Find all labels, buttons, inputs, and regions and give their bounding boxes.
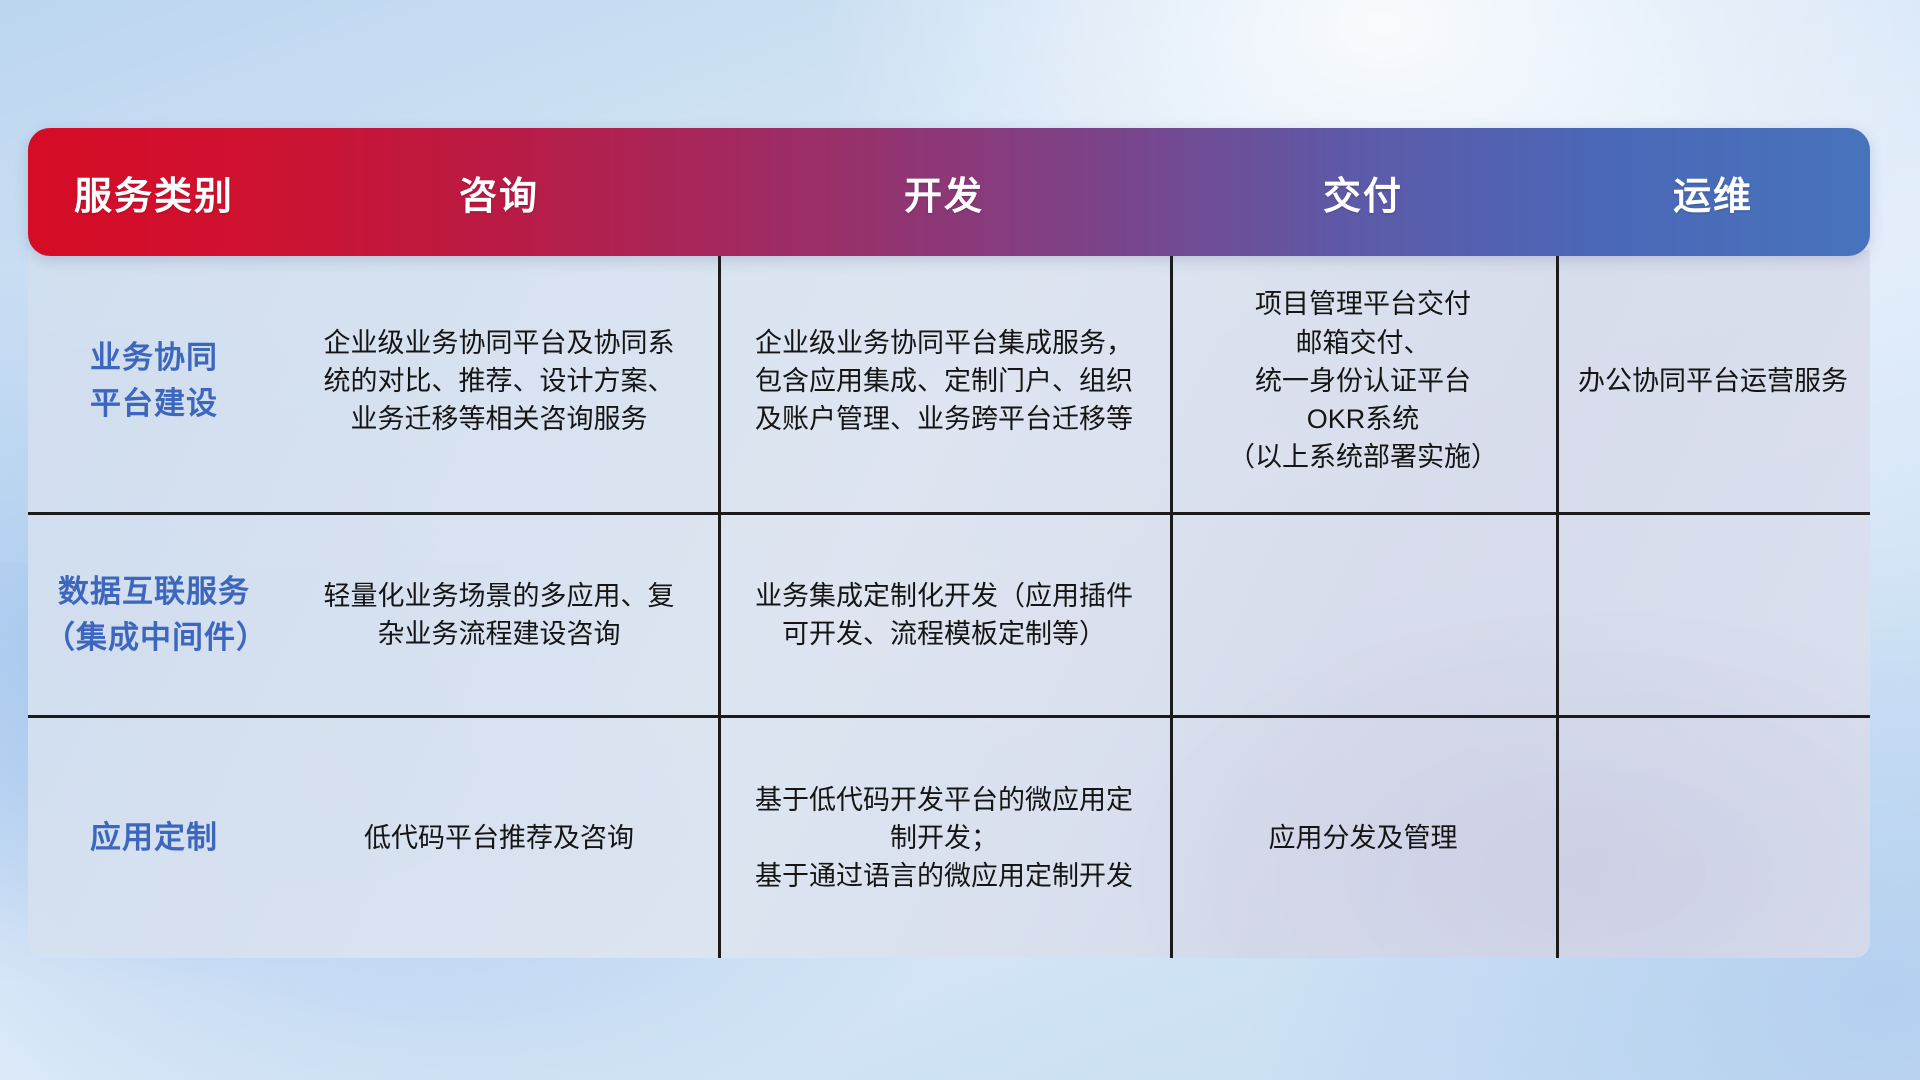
cell-consulting: 企业级业务协同平台及协同系 统的对比、推荐、设计方案、 业务迁移等相关咨询服务	[280, 250, 718, 512]
cell-delivery	[1170, 515, 1556, 715]
table-row: 应用定制 低代码平台推荐及咨询 基于低代码开发平台的微应用定 制开发； 基于通过…	[28, 715, 1870, 958]
table-row: 业务协同 平台建设 企业级业务协同平台及协同系 统的对比、推荐、设计方案、 业务…	[28, 250, 1870, 512]
cell-delivery: 项目管理平台交付 邮箱交付、 统一身份认证平台 OKR系统 （以上系统部署实施）	[1170, 250, 1556, 512]
row-category-label: 应用定制	[28, 718, 280, 958]
service-matrix-table: 服务类别 咨询 开发 交付 运维 业务协同 平台建设 企业级业务协同平台及协同系…	[28, 128, 1870, 958]
column-header-development: 开发	[718, 165, 1170, 220]
table-body: 业务协同 平台建设 企业级业务协同平台及协同系 统的对比、推荐、设计方案、 业务…	[28, 250, 1870, 958]
cell-consulting: 轻量化业务场景的多应用、复 杂业务流程建设咨询	[280, 515, 718, 715]
cell-operations: 办公协同平台运营服务	[1556, 250, 1870, 512]
row-category-label: 数据互联服务 （集成中间件）	[28, 515, 280, 715]
column-header-consulting: 咨询	[280, 165, 718, 220]
table-row: 数据互联服务 （集成中间件） 轻量化业务场景的多应用、复 杂业务流程建设咨询 业…	[28, 512, 1870, 715]
cell-consulting: 低代码平台推荐及咨询	[280, 718, 718, 958]
column-header-operations: 运维	[1556, 165, 1870, 220]
cell-delivery: 应用分发及管理	[1170, 718, 1556, 958]
cell-development: 基于低代码开发平台的微应用定 制开发； 基于通过语言的微应用定制开发	[718, 718, 1170, 958]
row-category-label: 业务协同 平台建设	[28, 250, 280, 512]
cell-operations	[1556, 718, 1870, 958]
cell-operations	[1556, 515, 1870, 715]
table-header-row: 服务类别 咨询 开发 交付 运维	[28, 128, 1870, 256]
column-header-delivery: 交付	[1170, 165, 1556, 220]
slide-canvas: 服务类别 咨询 开发 交付 运维 业务协同 平台建设 企业级业务协同平台及协同系…	[0, 0, 1920, 1080]
cell-development: 企业级业务协同平台集成服务， 包含应用集成、定制门户、组织 及账户管理、业务跨平…	[718, 250, 1170, 512]
column-header-category: 服务类别	[28, 165, 280, 220]
cell-development: 业务集成定制化开发（应用插件 可开发、流程模板定制等）	[718, 515, 1170, 715]
